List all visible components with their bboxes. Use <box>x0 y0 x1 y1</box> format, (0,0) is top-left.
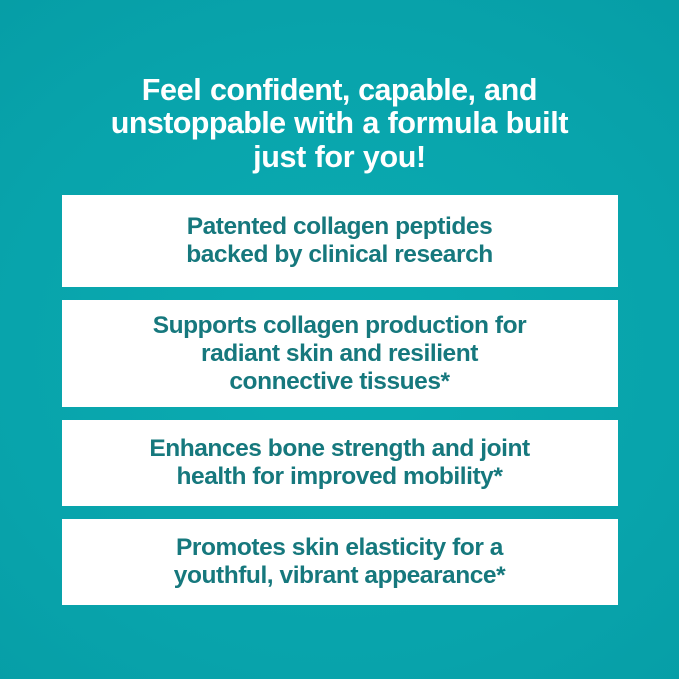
benefit-card-line: Promotes skin elasticity for a <box>174 534 505 562</box>
benefit-card-line: radiant skin and resilient <box>153 340 527 368</box>
headline-plain-and: and <box>475 73 537 107</box>
benefit-card-line: connective tissues* <box>153 368 527 396</box>
headline-plain-feel: Feel <box>142 73 210 107</box>
benefit-card-text: Enhances bone strength and joint health … <box>149 435 529 491</box>
promo-graphic: Feel confident, capable, and unstoppable… <box>0 0 679 679</box>
headline-emphasis-unstoppable: unstoppable <box>111 106 286 140</box>
headline-line-2: unstoppable with a formula built <box>62 107 618 140</box>
benefit-card-supports-collagen-production: Supports collagen production for radiant… <box>62 300 618 407</box>
benefit-card-patented-collagen-peptides: Patented collagen peptides backed by cli… <box>62 195 618 287</box>
headline-emphasis-confident-capable: confident, capable, <box>210 73 475 107</box>
headline-line-3: just for you! <box>62 141 618 174</box>
headline-line-1: Feel confident, capable, and <box>62 74 618 107</box>
benefit-card-text: Promotes skin elasticity for a youthful,… <box>174 534 505 590</box>
benefit-card-skin-elasticity: Promotes skin elasticity for a youthful,… <box>62 519 618 605</box>
headline-plain-with-formula: with a formula built <box>286 106 569 140</box>
benefit-card-text: Supports collagen production for radiant… <box>153 312 527 396</box>
benefit-card-line: backed by clinical research <box>186 241 493 269</box>
benefit-card-text: Patented collagen peptides backed by cli… <box>186 213 493 269</box>
headline: Feel confident, capable, and unstoppable… <box>62 74 618 174</box>
benefit-card-line: Supports collagen production for <box>153 312 527 340</box>
benefit-card-line: health for improved mobility* <box>149 463 529 491</box>
benefit-card-line: Patented collagen peptides <box>186 213 493 241</box>
benefit-card-bone-strength-joint-health: Enhances bone strength and joint health … <box>62 420 618 506</box>
benefit-card-line: youthful, vibrant appearance* <box>174 562 505 590</box>
benefit-card-line: Enhances bone strength and joint <box>149 435 529 463</box>
benefit-cards-list: Patented collagen peptides backed by cli… <box>62 195 618 605</box>
